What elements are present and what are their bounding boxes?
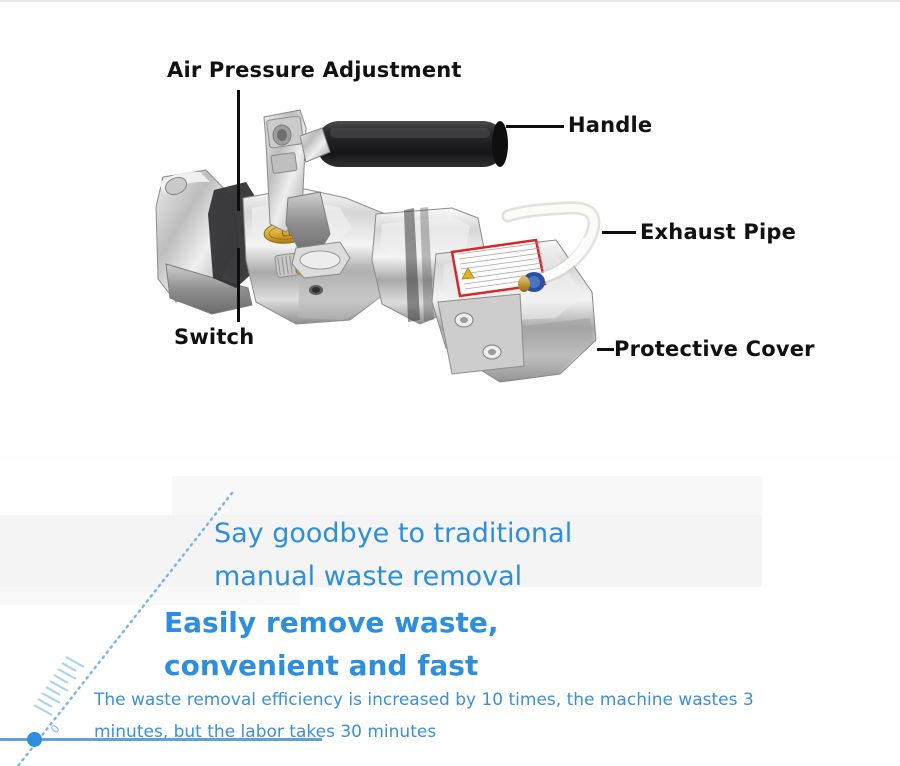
product-infographic-page: CD bbox=[0, 0, 900, 766]
leader-line-protective-cover bbox=[597, 348, 614, 351]
baseline-rule bbox=[0, 738, 322, 741]
callout-label-handle: Handle bbox=[568, 113, 652, 137]
background-panel-upper bbox=[172, 476, 762, 516]
ruler-zero-label: 0 bbox=[48, 722, 63, 736]
leader-line-switch bbox=[237, 248, 240, 322]
product-diagram-section: CD bbox=[0, 2, 900, 462]
marketing-section: 0 Say goodbye to traditional manual wast… bbox=[0, 462, 900, 766]
callout-label-protective-cover: Protective Cover bbox=[614, 337, 815, 361]
headline-line-2: manual waste removal bbox=[214, 561, 522, 592]
leader-line-exhaust-pipe bbox=[602, 231, 636, 234]
leader-line-handle bbox=[506, 125, 564, 128]
callout-label-air-pressure-adjustment: Air Pressure Adjustment bbox=[167, 58, 462, 82]
leader-line-air-pressure bbox=[237, 90, 240, 211]
callout-label-exhaust-pipe: Exhaust Pipe bbox=[640, 220, 796, 244]
headline-line-1: Say goodbye to traditional bbox=[214, 518, 572, 549]
ruler-ticks bbox=[34, 657, 84, 715]
callout-label-switch: Switch bbox=[174, 325, 254, 349]
rubber-handle bbox=[300, 121, 508, 167]
headline-line-4: convenient and fast bbox=[164, 649, 478, 682]
origin-marker-dot bbox=[27, 732, 42, 747]
headline-line-3: Easily remove waste, bbox=[164, 606, 499, 639]
